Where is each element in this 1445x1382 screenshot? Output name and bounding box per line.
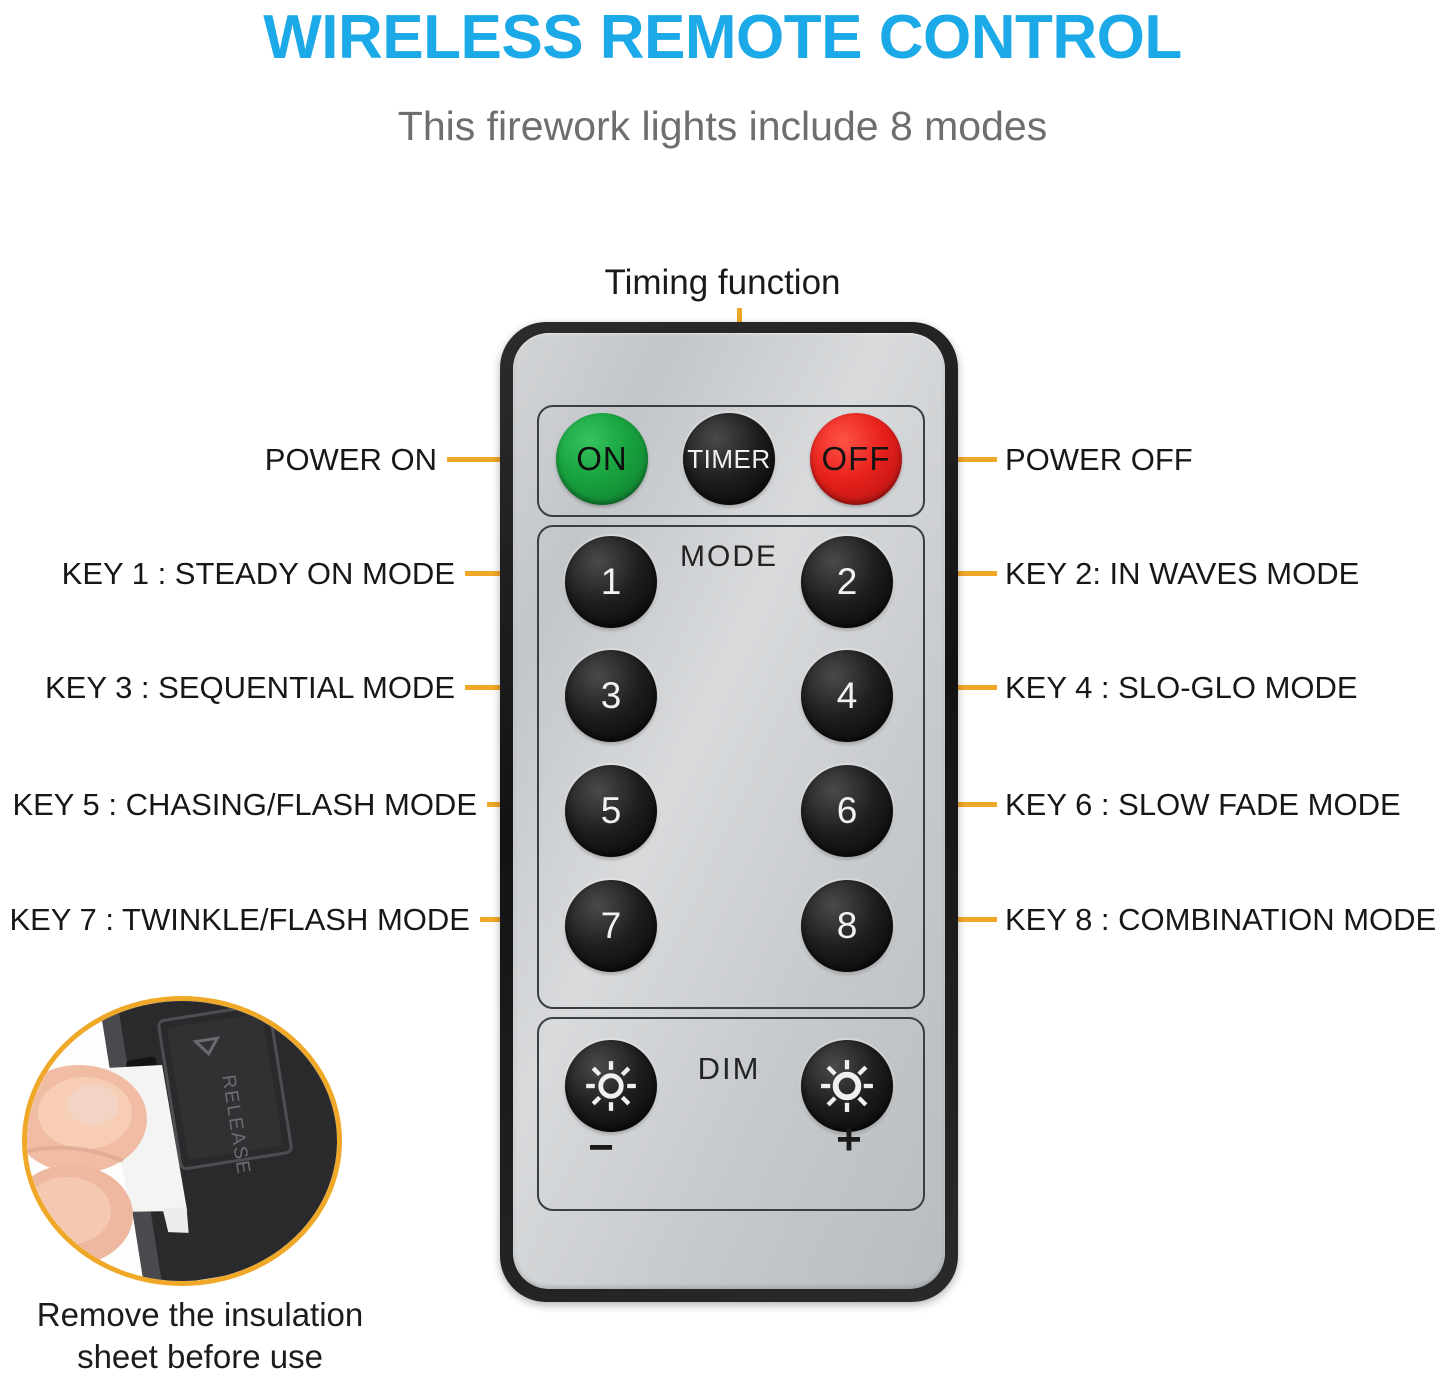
mode-section-label: MODE bbox=[633, 540, 825, 574]
mode-button-6[interactable]: 6 bbox=[801, 765, 893, 857]
mode-button-2[interactable]: 2 bbox=[801, 536, 893, 628]
dim-plus-sign: + bbox=[819, 1115, 879, 1165]
page-subtitle: This firework lights include 8 modes bbox=[0, 103, 1445, 150]
remote-faceplate: ON TIMER OFF MODE 1 2 3 4 5 6 7 8 DIM bbox=[513, 333, 945, 1289]
dim-section-label: DIM bbox=[633, 1051, 825, 1087]
brightness-sun-icon bbox=[584, 1059, 638, 1113]
callout-key-4: KEY 4 : SLO-GLO MODE bbox=[1005, 672, 1358, 703]
callout-key-5: KEY 5 : CHASING/FLASH MODE bbox=[0, 789, 477, 820]
callout-key-2: KEY 2: IN WAVES MODE bbox=[1005, 558, 1359, 589]
dim-minus-sign: − bbox=[571, 1123, 631, 1173]
callout-key-3: KEY 3 : SEQUENTIAL MODE bbox=[0, 672, 455, 703]
on-button[interactable]: ON bbox=[556, 413, 648, 505]
mode-button-8[interactable]: 8 bbox=[801, 880, 893, 972]
mode-button-7[interactable]: 7 bbox=[565, 880, 657, 972]
photo-caption-line-2: sheet before use bbox=[0, 1336, 400, 1378]
photo-caption: Remove the insulation sheet before use bbox=[0, 1294, 400, 1378]
mode-button-4[interactable]: 4 bbox=[801, 650, 893, 742]
mode-button-5[interactable]: 5 bbox=[565, 765, 657, 857]
timer-button[interactable]: TIMER bbox=[683, 413, 775, 505]
callout-key-6: KEY 6 : SLOW FADE MODE bbox=[1005, 789, 1401, 820]
remote-control-device: ON TIMER OFF MODE 1 2 3 4 5 6 7 8 DIM bbox=[500, 322, 958, 1302]
callout-key-7: KEY 7 : TWINKLE/FLASH MODE bbox=[0, 904, 470, 935]
mode-button-1[interactable]: 1 bbox=[565, 536, 657, 628]
dim-down-button[interactable] bbox=[565, 1040, 657, 1132]
mode-button-3[interactable]: 3 bbox=[565, 650, 657, 742]
insulation-sheet-photo: RELEASE bbox=[22, 996, 342, 1286]
photo-caption-line-1: Remove the insulation bbox=[0, 1294, 400, 1336]
off-button[interactable]: OFF bbox=[810, 413, 902, 505]
callout-power-off: POWER OFF bbox=[1005, 444, 1193, 475]
timing-function-label: Timing function bbox=[0, 263, 1445, 303]
callout-power-on: POWER ON bbox=[0, 444, 437, 475]
callout-key-1: KEY 1 : STEADY ON MODE bbox=[0, 558, 455, 589]
page-title: WIRELESS REMOTE CONTROL bbox=[0, 2, 1445, 73]
insulation-photo-illustration: RELEASE bbox=[27, 1001, 337, 1281]
brightness-sun-icon bbox=[820, 1059, 874, 1113]
callout-key-8: KEY 8 : COMBINATION MODE bbox=[1005, 904, 1436, 935]
